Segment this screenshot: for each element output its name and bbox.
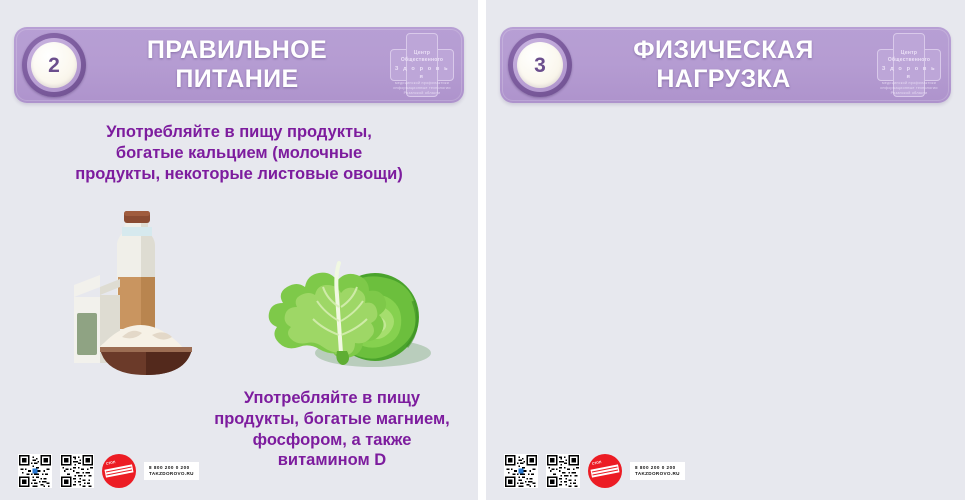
qr-code-2-svg (61, 455, 93, 487)
qr-code-1-svg (19, 455, 51, 487)
cross-logo-text: Центр Общественного З д о р о в ь я меди… (879, 50, 939, 97)
nutrition-magnesium-text: Употребляйте в пищу продукты, богатые ма… (196, 388, 468, 471)
lettuce-cabbage-illustration (253, 243, 443, 373)
logo-line-1: Центр Общественного (392, 50, 452, 65)
footer-branding-left: СТОП 8 800 200 0 200 TAKZDOROVO.RU (18, 454, 199, 488)
medical-cross-logo-icon: Центр Общественного З д о р о в ь я меди… (390, 33, 454, 97)
qr-code-1[interactable] (18, 454, 52, 488)
panel-title-line1: ПРАВИЛЬНОЕ (147, 36, 327, 65)
qr-code-1-svg (505, 455, 537, 487)
badge-face: 2 (31, 42, 77, 88)
cross-logo-text: Центр Общественного З д о р о в ь я меди… (392, 50, 452, 97)
hotline-website: TAKZDOROVO.RU (149, 471, 194, 477)
stop-logo-label: СТОП (592, 460, 602, 466)
text-line-1: Употребляйте в пищу (196, 388, 468, 409)
panel-physical-activity: 3 ФИЗИЧЕСКАЯ НАГРУЗКА Центр Общественног… (486, 0, 965, 500)
panel-header-bar-left: 2 ПРАВИЛЬНОЕ ПИТАНИЕ Центр Общественного… (14, 27, 464, 103)
text-line-1: Употребляйте в пищу продукты, (18, 122, 460, 143)
text-line-3: фосфором, а также (196, 430, 468, 451)
badge-face: 3 (517, 42, 563, 88)
panel-header-bar-right: 3 ФИЗИЧЕСКАЯ НАГРУЗКА Центр Общественног… (500, 27, 951, 103)
qr-code-2[interactable] (60, 454, 94, 488)
panel-title-line2: ПИТАНИЕ (175, 65, 298, 94)
panel-title-line1: ФИЗИЧЕСКАЯ (633, 36, 814, 65)
dairy-svg (60, 203, 210, 375)
stop-logo-label: СТОП (106, 460, 116, 466)
logo-line-1: Центр Общественного (879, 50, 939, 65)
hotline-block: 8 800 200 0 200 TAKZDOROVO.RU (630, 462, 685, 480)
logo-line-5: Рязанской области (392, 91, 452, 96)
logo-line-2: З д о р о в ь я (879, 65, 939, 81)
qr-code-1[interactable] (504, 454, 538, 488)
logo-line-5: Рязанской области (879, 91, 939, 96)
stop-logo-band (104, 464, 133, 477)
step-number-badge: 2 (22, 33, 86, 97)
stop-campaign-logo-icon: СТОП (588, 454, 622, 488)
qr-code-2-svg (547, 455, 579, 487)
infographic-slide: 2 ПРАВИЛЬНОЕ ПИТАНИЕ Центр Общественного… (0, 0, 965, 500)
medical-cross-logo-icon: Центр Общественного З д о р о в ь я меди… (877, 33, 941, 97)
nutrition-calcium-text: Употребляйте в пищу продукты, богатые ка… (18, 122, 460, 184)
dairy-products-illustration (60, 203, 210, 375)
logo-line-2: З д о р о в ь я (392, 65, 452, 81)
stop-campaign-logo-icon: СТОП (102, 454, 136, 488)
qr-code-2[interactable] (546, 454, 580, 488)
panel-title-left: ПРАВИЛЬНОЕ ПИТАНИЕ (96, 27, 378, 103)
hotline-block: 8 800 200 0 200 TAKZDOROVO.RU (144, 462, 199, 480)
text-line-4: витамином D (196, 450, 468, 471)
stop-logo-band (590, 464, 619, 477)
panel-healthy-nutrition: 2 ПРАВИЛЬНОЕ ПИТАНИЕ Центр Общественного… (0, 0, 478, 500)
footer-branding-right: СТОП 8 800 200 0 200 TAKZDOROVO.RU (504, 454, 685, 488)
text-line-2: продукты, богатые магнием, (196, 409, 468, 430)
panel-title-right: ФИЗИЧЕСКАЯ НАГРУЗКА (582, 27, 865, 103)
panel-divider (478, 0, 486, 500)
panel-title-line2: НАГРУЗКА (656, 65, 790, 94)
step-number-label: 3 (534, 55, 546, 76)
text-line-3: продукты, некоторые листовые овощи) (18, 164, 460, 185)
text-line-2: богатые кальцием (молочные (18, 143, 460, 164)
hotline-website: TAKZDOROVO.RU (635, 471, 680, 477)
step-number-label: 2 (48, 55, 60, 76)
step-number-badge: 3 (508, 33, 572, 97)
lettuce-svg (253, 243, 443, 373)
